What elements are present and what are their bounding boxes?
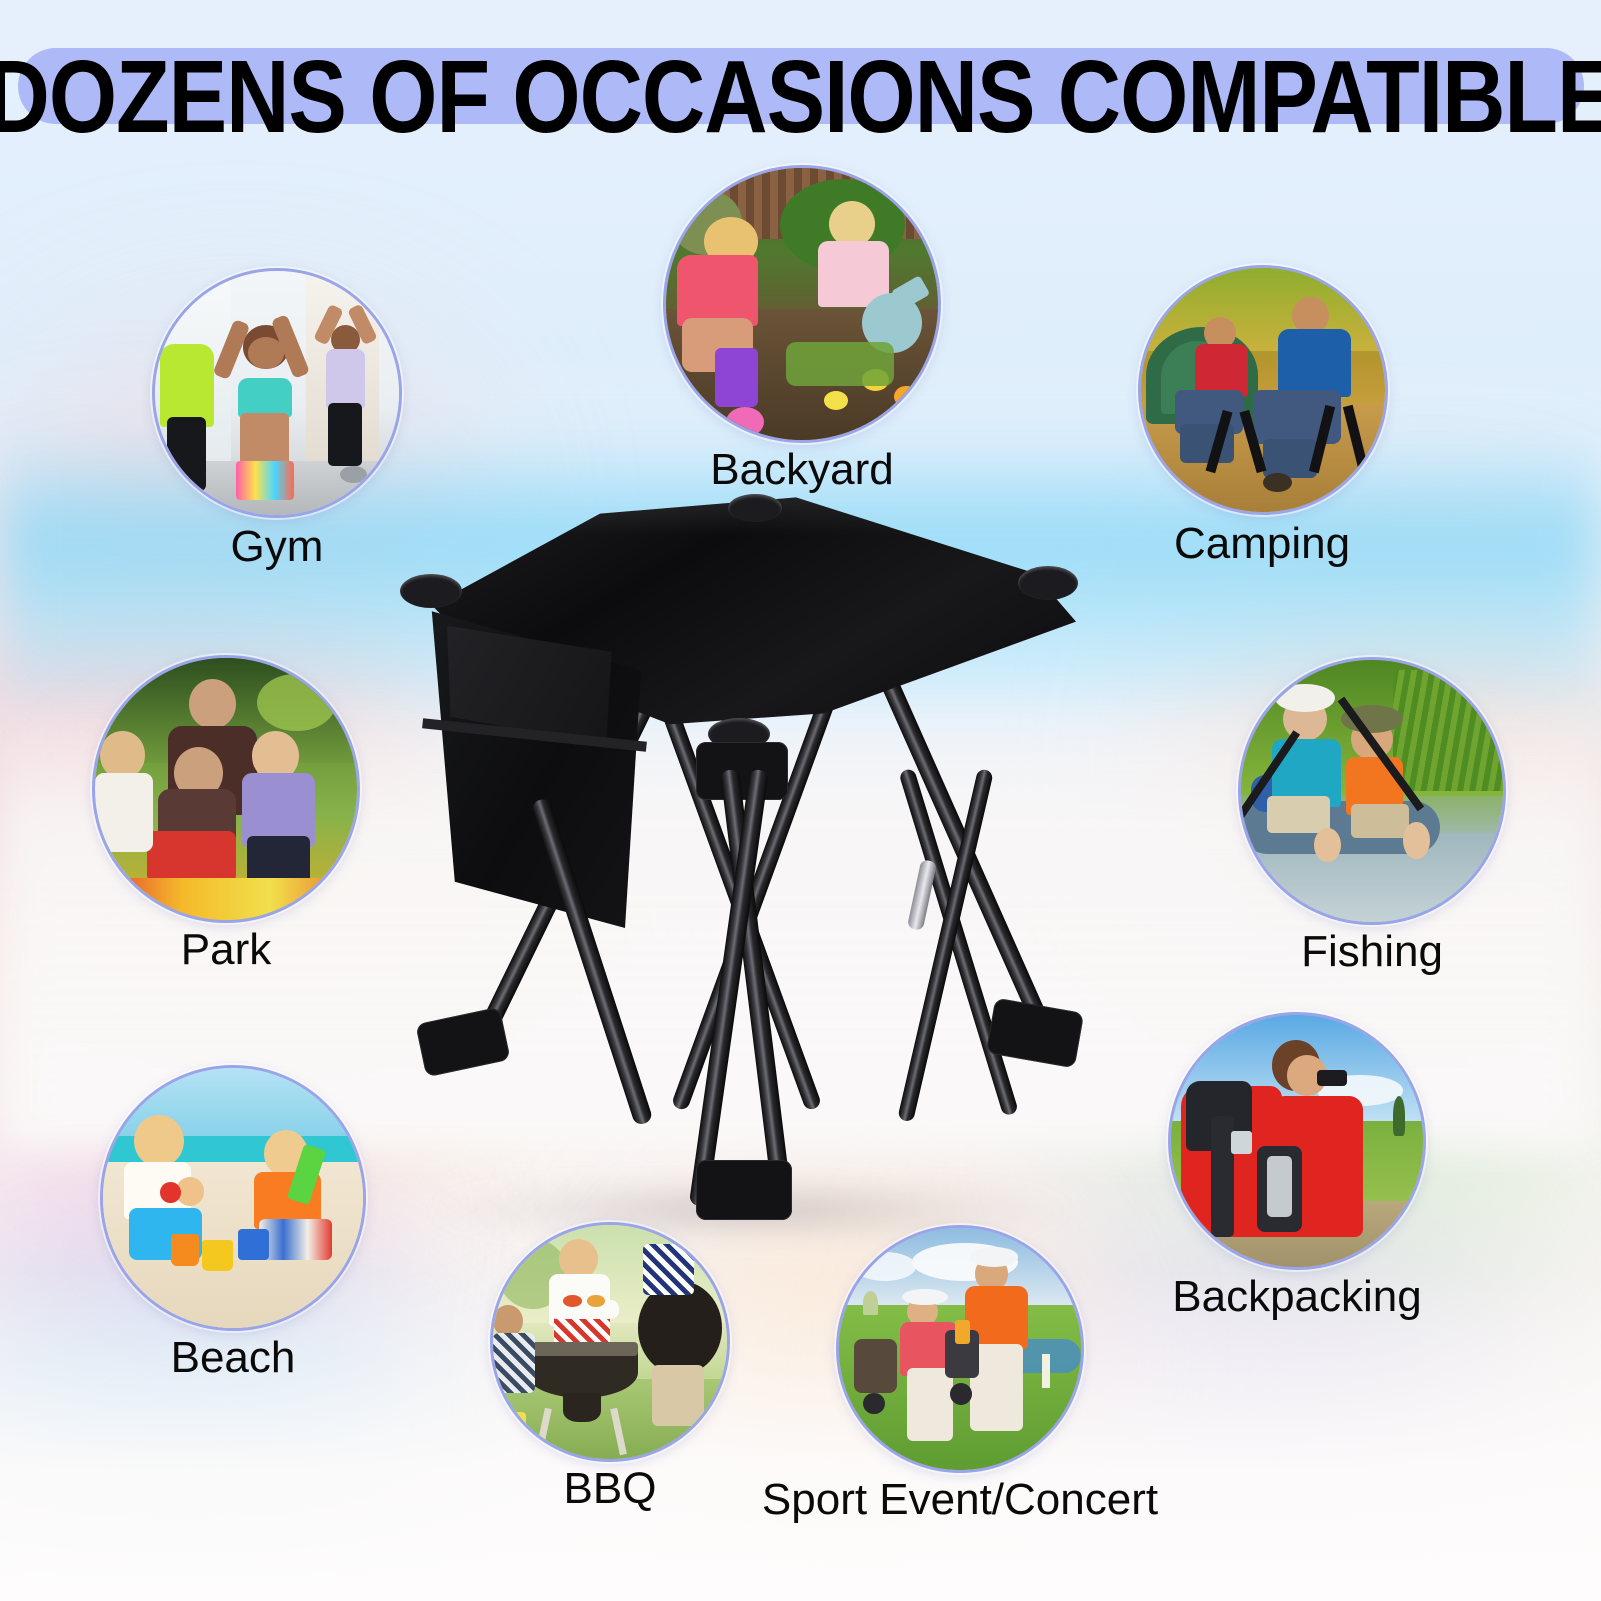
page-title: DOZENS OF OCCASIONS COMPATIBLE xyxy=(0,30,1601,164)
stool-corner-cap-left xyxy=(400,574,462,608)
occasion-gym-image xyxy=(152,268,402,518)
occasion-bbq-image xyxy=(490,1222,730,1462)
occasion-backyard[interactable]: Backyard xyxy=(663,165,941,495)
stool-corner-cap-top xyxy=(728,494,782,522)
occasion-backpacking[interactable]: Backpacking xyxy=(1168,1012,1426,1332)
occasion-gym-label: Gym xyxy=(231,520,324,574)
occasion-park-label: Park xyxy=(181,923,271,977)
occasion-backpacking-image xyxy=(1168,1012,1426,1270)
product-folding-stool xyxy=(378,470,1118,1230)
golf-photo xyxy=(839,1228,1081,1470)
occasion-park[interactable]: Park xyxy=(92,655,360,985)
occasion-beach[interactable]: Beach xyxy=(100,1065,366,1395)
occasion-bbq[interactable]: BBQ xyxy=(490,1222,730,1532)
occasion-fishing[interactable]: Fishing xyxy=(1238,657,1506,987)
occasion-sport-event-image xyxy=(836,1225,1084,1473)
fishing-photo xyxy=(1241,660,1503,922)
infographic-canvas: DOZENS OF OCCASIONS COMPATIBLE xyxy=(0,0,1601,1601)
gym-photo xyxy=(155,271,399,515)
beach-photo xyxy=(103,1068,363,1328)
backpacking-photo xyxy=(1171,1015,1423,1267)
occasion-bbq-label: BBQ xyxy=(564,1462,657,1516)
occasion-fishing-image xyxy=(1238,657,1506,925)
camping-photo xyxy=(1141,268,1385,512)
park-photo xyxy=(95,658,357,920)
occasion-camping-image xyxy=(1138,265,1388,515)
occasion-beach-image xyxy=(100,1065,366,1331)
occasion-backyard-image xyxy=(663,165,941,443)
occasion-camping-label: Camping xyxy=(1174,517,1350,571)
occasion-sport-event[interactable]: Sport Event/Concert xyxy=(836,1225,1084,1535)
occasion-backyard-label: Backyard xyxy=(710,443,893,497)
occasion-camping[interactable]: Camping xyxy=(1138,265,1386,585)
bbq-photo xyxy=(493,1225,727,1459)
backyard-photo xyxy=(666,168,938,440)
occasion-backpacking-label: Backpacking xyxy=(1172,1270,1421,1324)
stool-slider-collar xyxy=(907,859,937,931)
stool-hub-front xyxy=(696,742,788,800)
stool-foot-left xyxy=(415,1007,510,1078)
occasion-sport-event-label: Sport Event/Concert xyxy=(762,1473,1158,1527)
stool-corner-cap-right xyxy=(1018,566,1078,600)
stool-foot-center xyxy=(696,1160,792,1220)
occasion-gym[interactable]: Gym xyxy=(152,268,402,588)
occasion-beach-label: Beach xyxy=(171,1331,296,1385)
occasion-park-image xyxy=(92,655,360,923)
occasion-fishing-label: Fishing xyxy=(1301,925,1443,979)
